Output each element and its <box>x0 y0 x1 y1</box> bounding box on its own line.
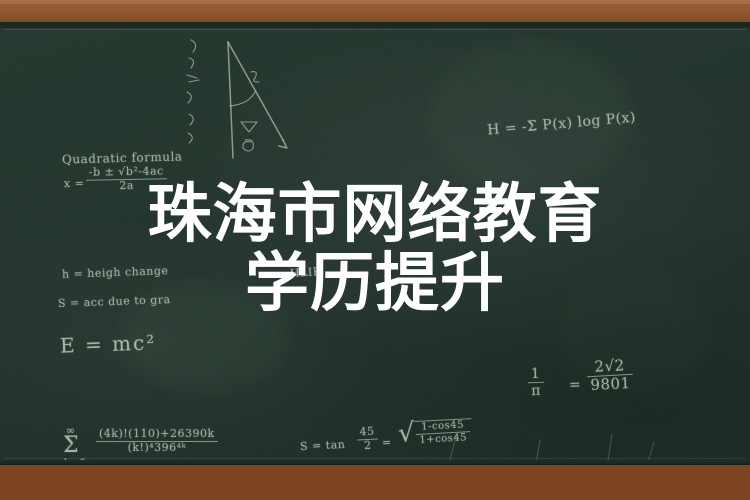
note-ramanujan-numerator: (4k)!(110)+26390k <box>96 428 218 441</box>
note-pi-equals: = <box>569 378 582 393</box>
note-pi-rhs: 2√2 9801 <box>586 357 634 395</box>
note-pi-lhs-numerator: 1 <box>527 366 543 383</box>
chalkboard-surface: Quadratic formula x = -b ± √b²-4ac 2a H … <box>0 22 750 465</box>
frame-top <box>0 0 750 22</box>
note-entropy: H = -Σ P(x) log P(x) <box>487 111 637 139</box>
note-quadratic-fraction: -b ± √b²-4ac 2a <box>86 165 167 193</box>
note-pi-lhs-denominator: π <box>528 382 544 400</box>
note-quadratic-x: x = <box>64 178 85 190</box>
note-acceleration: S = acc due to gra <box>58 294 171 309</box>
board-bottom-inner-line <box>4 458 746 459</box>
note-mass-energy: E = mc² <box>60 332 157 356</box>
note-tan-radical: √ 1-cos45 1+cos45 <box>397 418 472 447</box>
note-tan-arg-numerator: 45 <box>356 425 378 439</box>
frame-top-highlight <box>0 0 750 4</box>
note-tan-argument: 45 2 <box>356 425 378 452</box>
frame-bottom <box>0 465 750 500</box>
board-top-inner-line <box>4 29 746 30</box>
board-top-edge <box>0 22 750 28</box>
note-height-change: h = heigh change <box>62 265 169 280</box>
note-tan-arg-denominator: 2 <box>357 438 379 453</box>
note-sum-sigma: Σ <box>63 434 79 457</box>
note-pi-rhs-denominator: 9801 <box>587 374 634 395</box>
note-tan-equals: = <box>382 437 392 449</box>
note-ramanujan-fraction: (4k)!(110)+26390k (k!)⁴396⁴ᵏ <box>96 428 218 454</box>
note-quadratic-numerator: -b ± √b²-4ac <box>86 165 167 179</box>
chalk-smudge <box>560 272 710 392</box>
note-tan-lhs: S = tan <box>300 439 346 453</box>
note-hlip: HLIP <box>290 266 321 280</box>
note-ramanujan-denominator: (k!)⁴396⁴ᵏ <box>96 441 218 455</box>
board-texture <box>0 22 750 465</box>
triangle-diagram <box>175 30 305 170</box>
note-pi-lhs: 1 π <box>527 366 544 400</box>
note-quadratic-denominator: 2a <box>86 178 167 193</box>
chalkboard-banner: Quadratic formula x = -b ± √b²-4ac 2a H … <box>0 0 750 500</box>
note-quadratic-title: Quadratic formula <box>62 150 183 166</box>
